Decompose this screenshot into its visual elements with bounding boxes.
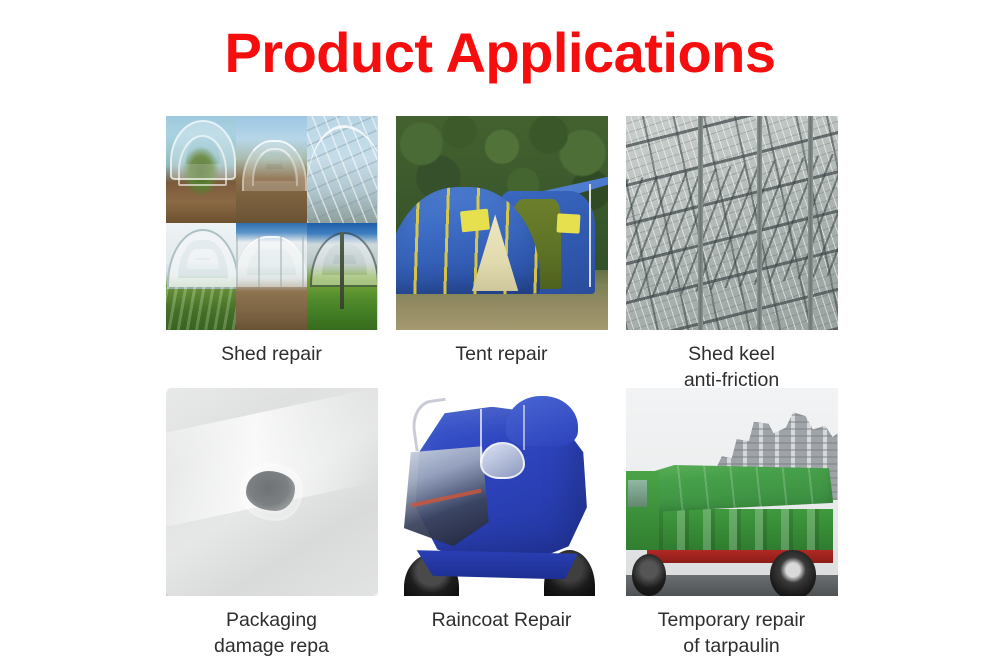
- keel-structure-scene: [626, 116, 838, 330]
- tent-support-pole: [589, 184, 591, 287]
- truck-front-wheel: [632, 554, 666, 596]
- torn-plastic-film-photo: [166, 388, 378, 596]
- application-caption-shed-repair: Shed repair: [221, 341, 322, 367]
- raincoat-seam-right: [523, 405, 525, 451]
- film-torn-hole: [246, 471, 295, 511]
- application-card-packaging-damage: Packaging damage repa: [170, 388, 391, 659]
- collage-grid: [166, 116, 378, 330]
- collage-tile-white-hoop-crops: [166, 223, 237, 330]
- green-dump-truck-tarpaulin-photo: [626, 388, 838, 596]
- raincoat-lower-skirt: [417, 550, 578, 579]
- tent-window-left: [460, 209, 490, 233]
- motorcycle-raincoat-photo: [396, 388, 608, 596]
- page-title: Product Applications: [0, 22, 1000, 84]
- collage-tile-greenhouse-interior: [166, 116, 237, 223]
- applications-row-bottom: Packaging damage repa: [170, 388, 833, 661]
- application-card-tent-repair: Tent repair: [391, 116, 612, 367]
- collage-tile-hoop-frames-soil: [236, 116, 307, 223]
- raincoat-seam-left: [480, 409, 482, 463]
- product-applications-page: Product Applications Shed repair: [0, 0, 1000, 672]
- raincoat-hood: [506, 396, 578, 446]
- application-caption-tent-repair: Tent repair: [455, 341, 547, 367]
- tent-scene: [396, 116, 608, 330]
- application-card-shed-repair: Shed repair: [170, 116, 391, 367]
- truck-bed-ribs: [651, 509, 833, 551]
- collage-tile-tunnel-exterior: [236, 223, 307, 330]
- application-caption-raincoat-repair: Raincoat Repair: [432, 607, 572, 633]
- raincoat-mirror-cover: [480, 442, 524, 479]
- plastic-film-scene: [166, 388, 378, 596]
- keel-vertical-post-3: [808, 116, 813, 330]
- application-caption-tarpaulin-repair: Temporary repair of tarpaulin: [658, 607, 805, 659]
- keel-vertical-post-1: [698, 116, 703, 330]
- keel-vertical-post-2: [757, 116, 762, 330]
- applications-row-top: Shed repair: [170, 116, 833, 388]
- greenhouse-collage-photo: [166, 116, 378, 330]
- application-card-shed-keel: Shed keel anti-friction: [612, 116, 833, 393]
- application-caption-shed-keel: Shed keel anti-friction: [684, 341, 779, 393]
- raincoat-scene: [396, 388, 608, 596]
- blue-tunnel-tent-photo: [396, 116, 608, 330]
- dump-truck-scene: [626, 388, 838, 596]
- greenhouse-steel-keel-photo: [626, 116, 838, 330]
- truck-rear-wheel: [770, 550, 817, 596]
- applications-grid: Shed repair: [170, 116, 833, 661]
- scooter-handlebar: [409, 398, 452, 451]
- collage-tile-frame-green-crop: [307, 223, 378, 330]
- collage-tile-metal-frame-sky: [307, 116, 378, 223]
- application-card-tarpaulin-repair: Temporary repair of tarpaulin: [612, 388, 833, 659]
- truck-cab-window: [628, 480, 647, 507]
- tent-window-right: [556, 214, 580, 234]
- application-card-raincoat-repair: Raincoat Repair: [391, 388, 612, 633]
- application-caption-packaging-damage: Packaging damage repa: [214, 607, 329, 659]
